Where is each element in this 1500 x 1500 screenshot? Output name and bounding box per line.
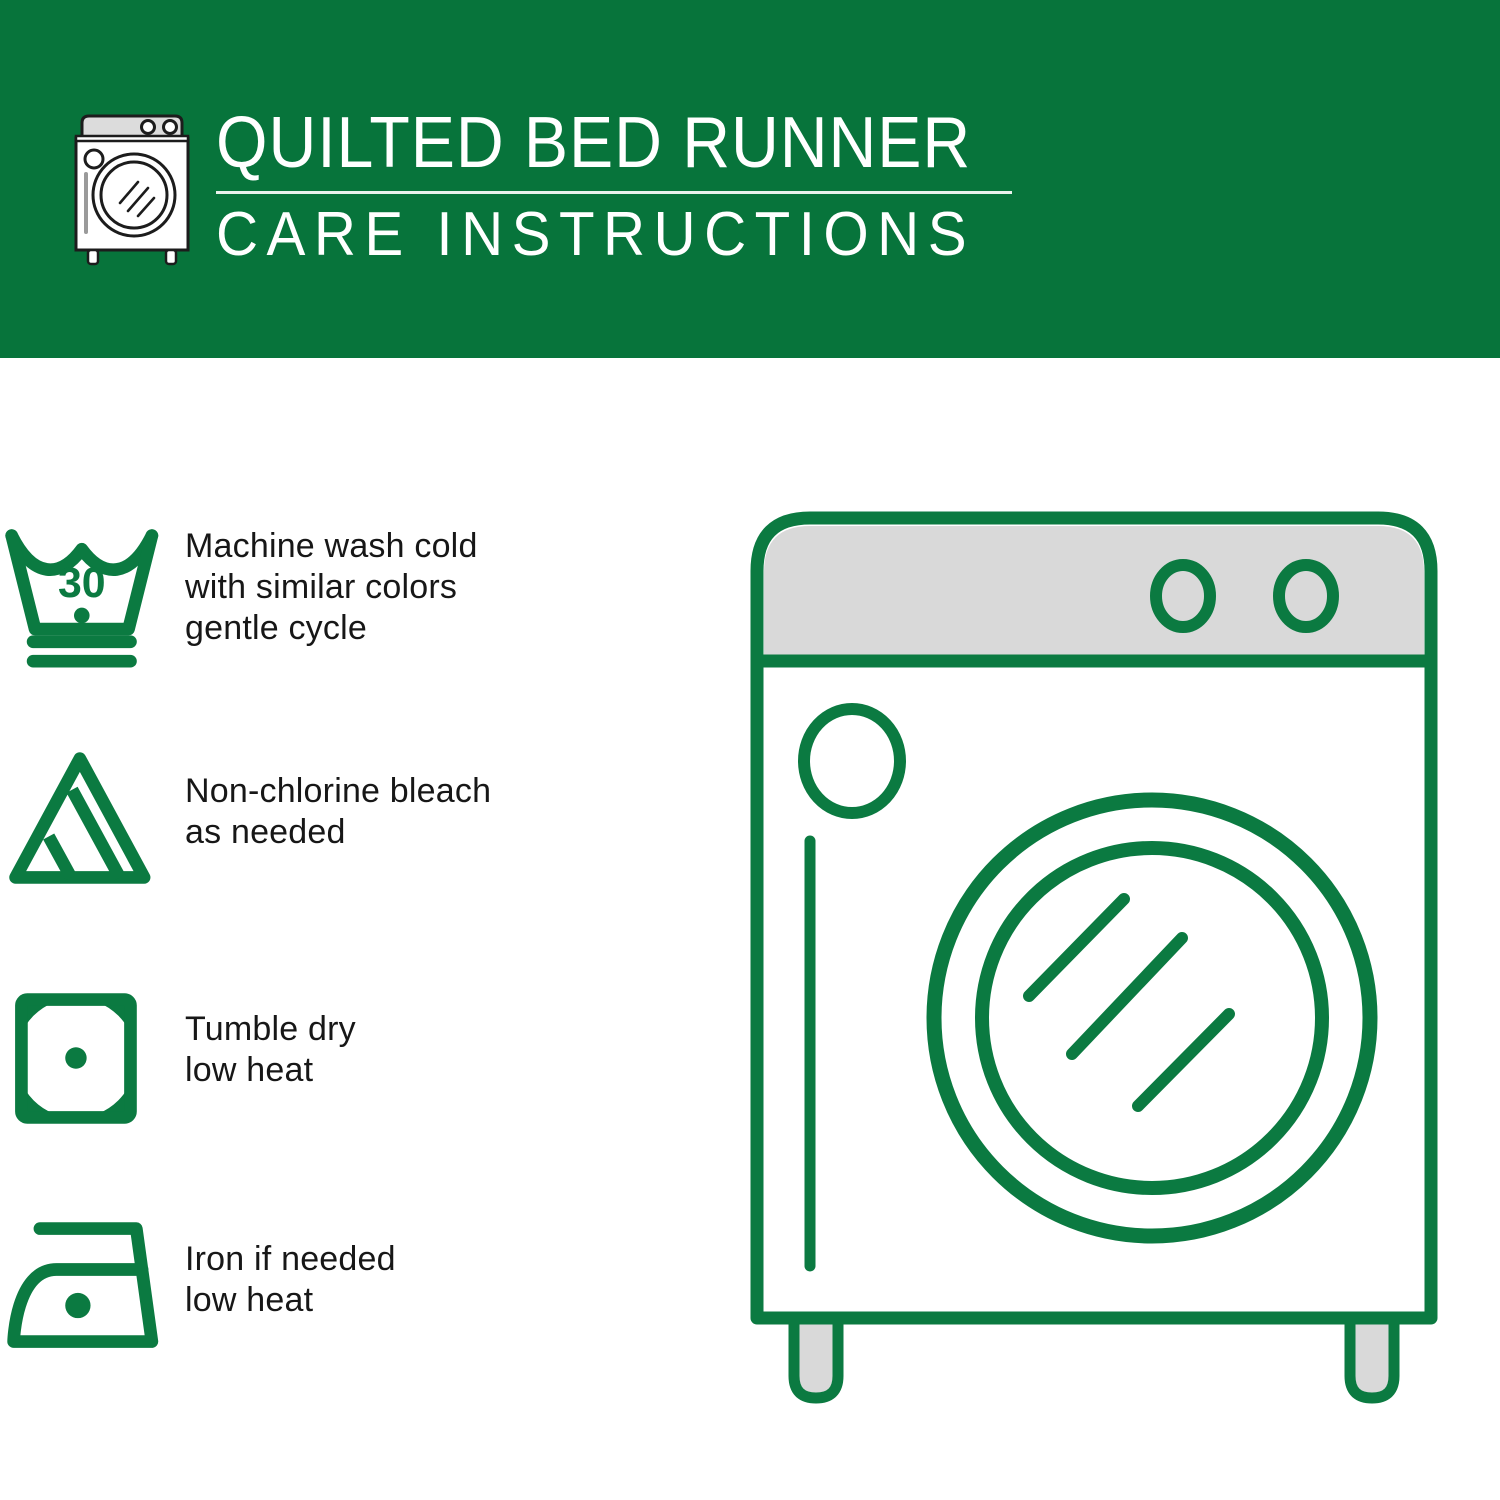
header-washing-machine-icon [62,108,202,268]
header-text-block: QUILTED BED RUNNER CARE INSTRUCTIONS [216,104,1016,269]
care-instruction-row: Non-chlorine bleach as needed [0,743,700,893]
machine-wash-30-gentle-icon: 30 [0,520,185,670]
door-inner-ring [982,848,1322,1188]
care-instruction-row: Tumble dry low heat [0,983,700,1133]
knob-right [1279,565,1333,627]
care-instruction-row: 30 Machine wash cold with similar colors… [0,520,700,670]
care-instruction-row: Iron if needed low heat [0,1213,700,1363]
non-chlorine-bleach-icon [0,743,185,893]
knob-left [1156,565,1210,627]
care-instruction-label: Tumble dry low heat [185,983,356,1091]
care-instruction-label: Machine wash cold with similar colors ge… [185,520,478,649]
wash-temperature-value: 30 [58,559,106,607]
page-subtitle: CARE INSTRUCTIONS [216,201,968,269]
header-divider [216,191,1012,194]
iron-low-heat-icon [0,1213,185,1363]
header-band: QUILTED BED RUNNER CARE INSTRUCTIONS [0,0,1500,358]
tumble-dry-low-heat-icon [0,983,185,1133]
care-instruction-label: Iron if needed low heat [185,1213,396,1321]
page-title: QUILTED BED RUNNER [216,104,952,182]
washing-machine-illustration [742,496,1452,1426]
detergent-port [804,709,900,813]
care-instruction-label: Non-chlorine bleach as needed [185,743,491,853]
